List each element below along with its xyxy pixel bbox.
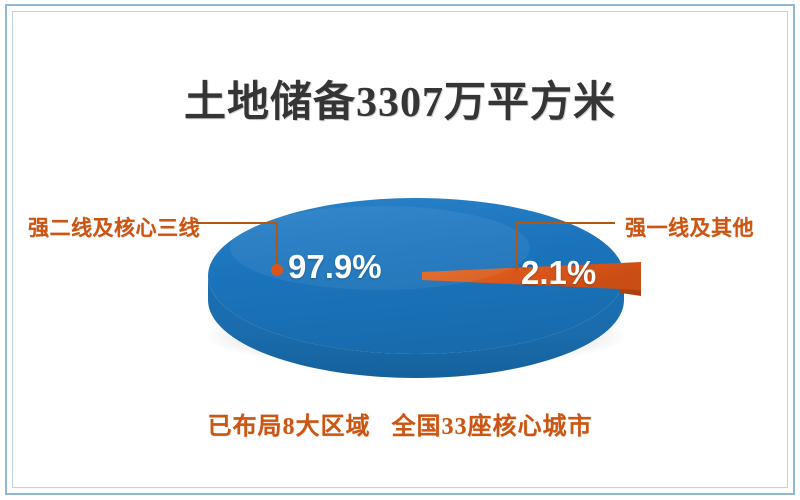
callout-label-major: 强二线及核心三线 (28, 212, 200, 242)
slide-canvas: 土地储备3307万平方米 (0, 0, 800, 500)
value-label-minor: 2.1% (521, 254, 596, 292)
value-label-major: 97.9% (288, 248, 382, 286)
leader-dot-left (271, 264, 283, 276)
callout-label-minor: 强一线及其他 (625, 212, 754, 242)
footer-caption: 已布局8大区域 全国33座核心城市 (0, 406, 800, 441)
